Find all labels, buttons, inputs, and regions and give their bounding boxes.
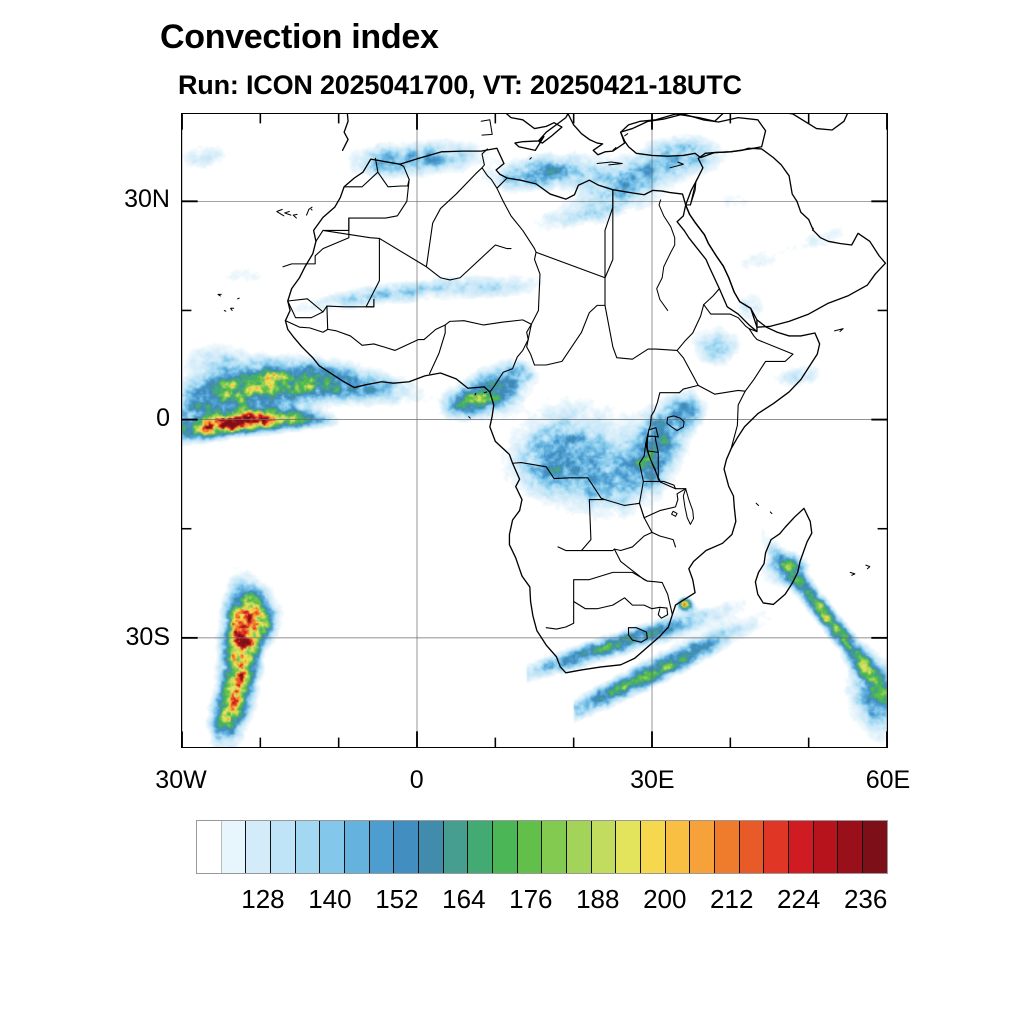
y-axis-label-30S: 30S <box>100 623 170 652</box>
island-outline-15 <box>484 392 486 393</box>
colorbar-cell <box>246 821 271 873</box>
island-outline-8 <box>238 298 240 299</box>
run-valid-time-subtitle: Run: ICON 2025041700, VT: 20250421-18UTC <box>178 70 742 101</box>
colorbar-cell <box>419 821 444 873</box>
colorbar-cell <box>715 821 740 873</box>
colorbar-cell <box>690 821 715 873</box>
colorbar-cell <box>518 821 543 873</box>
colorbar-cell <box>764 821 789 873</box>
colorbar-cell <box>592 821 617 873</box>
colorbar-cell <box>345 821 370 873</box>
x-axis-label-60E: 60E <box>828 766 948 795</box>
colorbar-label-128: 128 <box>241 884 284 915</box>
y-axis-label-0: 0 <box>100 404 170 433</box>
x-axis-label-30E: 30E <box>592 766 712 795</box>
island-outline-14 <box>475 393 476 394</box>
colorbar-cell <box>444 821 469 873</box>
page-title: Convection index <box>160 18 439 57</box>
colorbar-label-152: 152 <box>375 884 418 915</box>
colorbar-cell <box>616 821 641 873</box>
colorbar-cell <box>370 821 395 873</box>
colorbar-label-140: 140 <box>308 884 351 915</box>
convection-index-field <box>182 114 887 747</box>
island-outline-4 <box>311 209 312 210</box>
colorbar-cell <box>197 821 222 873</box>
colorbar-cell <box>468 821 493 873</box>
colorbar-label-224: 224 <box>777 884 820 915</box>
map-canvas <box>182 114 887 747</box>
colorbar-cell <box>666 821 691 873</box>
colorbar[interactable] <box>196 820 888 874</box>
colorbar-label-236: 236 <box>844 884 887 915</box>
colorbar-cell <box>271 821 296 873</box>
colorbar-cell <box>296 821 321 873</box>
colorbar-cell <box>493 821 518 873</box>
colorbar-cell <box>542 821 567 873</box>
x-axis-label-0: 0 <box>357 766 477 795</box>
island-outline-7 <box>224 310 226 311</box>
colorbar-label-200: 200 <box>643 884 686 915</box>
colorbar-cell <box>641 821 666 873</box>
colorbar-cell <box>222 821 247 873</box>
colorbar-cell <box>814 821 839 873</box>
colorbar-cell <box>789 821 814 873</box>
colorbar-label-164: 164 <box>442 884 485 915</box>
colorbar-label-176: 176 <box>509 884 552 915</box>
colorbar-label-212: 212 <box>710 884 753 915</box>
convection-index-figure: Convection index Run: ICON 2025041700, V… <box>0 0 1024 1024</box>
map-plot-area <box>181 113 888 748</box>
y-axis-label-30N: 30N <box>100 185 170 214</box>
colorbar-cell <box>863 821 887 873</box>
colorbar-cell <box>838 821 863 873</box>
colorbar-cell <box>567 821 592 873</box>
colorbar-label-188: 188 <box>576 884 619 915</box>
colorbar-cell <box>740 821 765 873</box>
x-axis-label-30W: 30W <box>121 766 241 795</box>
colorbar-cell <box>320 821 345 873</box>
colorbar-cell <box>394 821 419 873</box>
